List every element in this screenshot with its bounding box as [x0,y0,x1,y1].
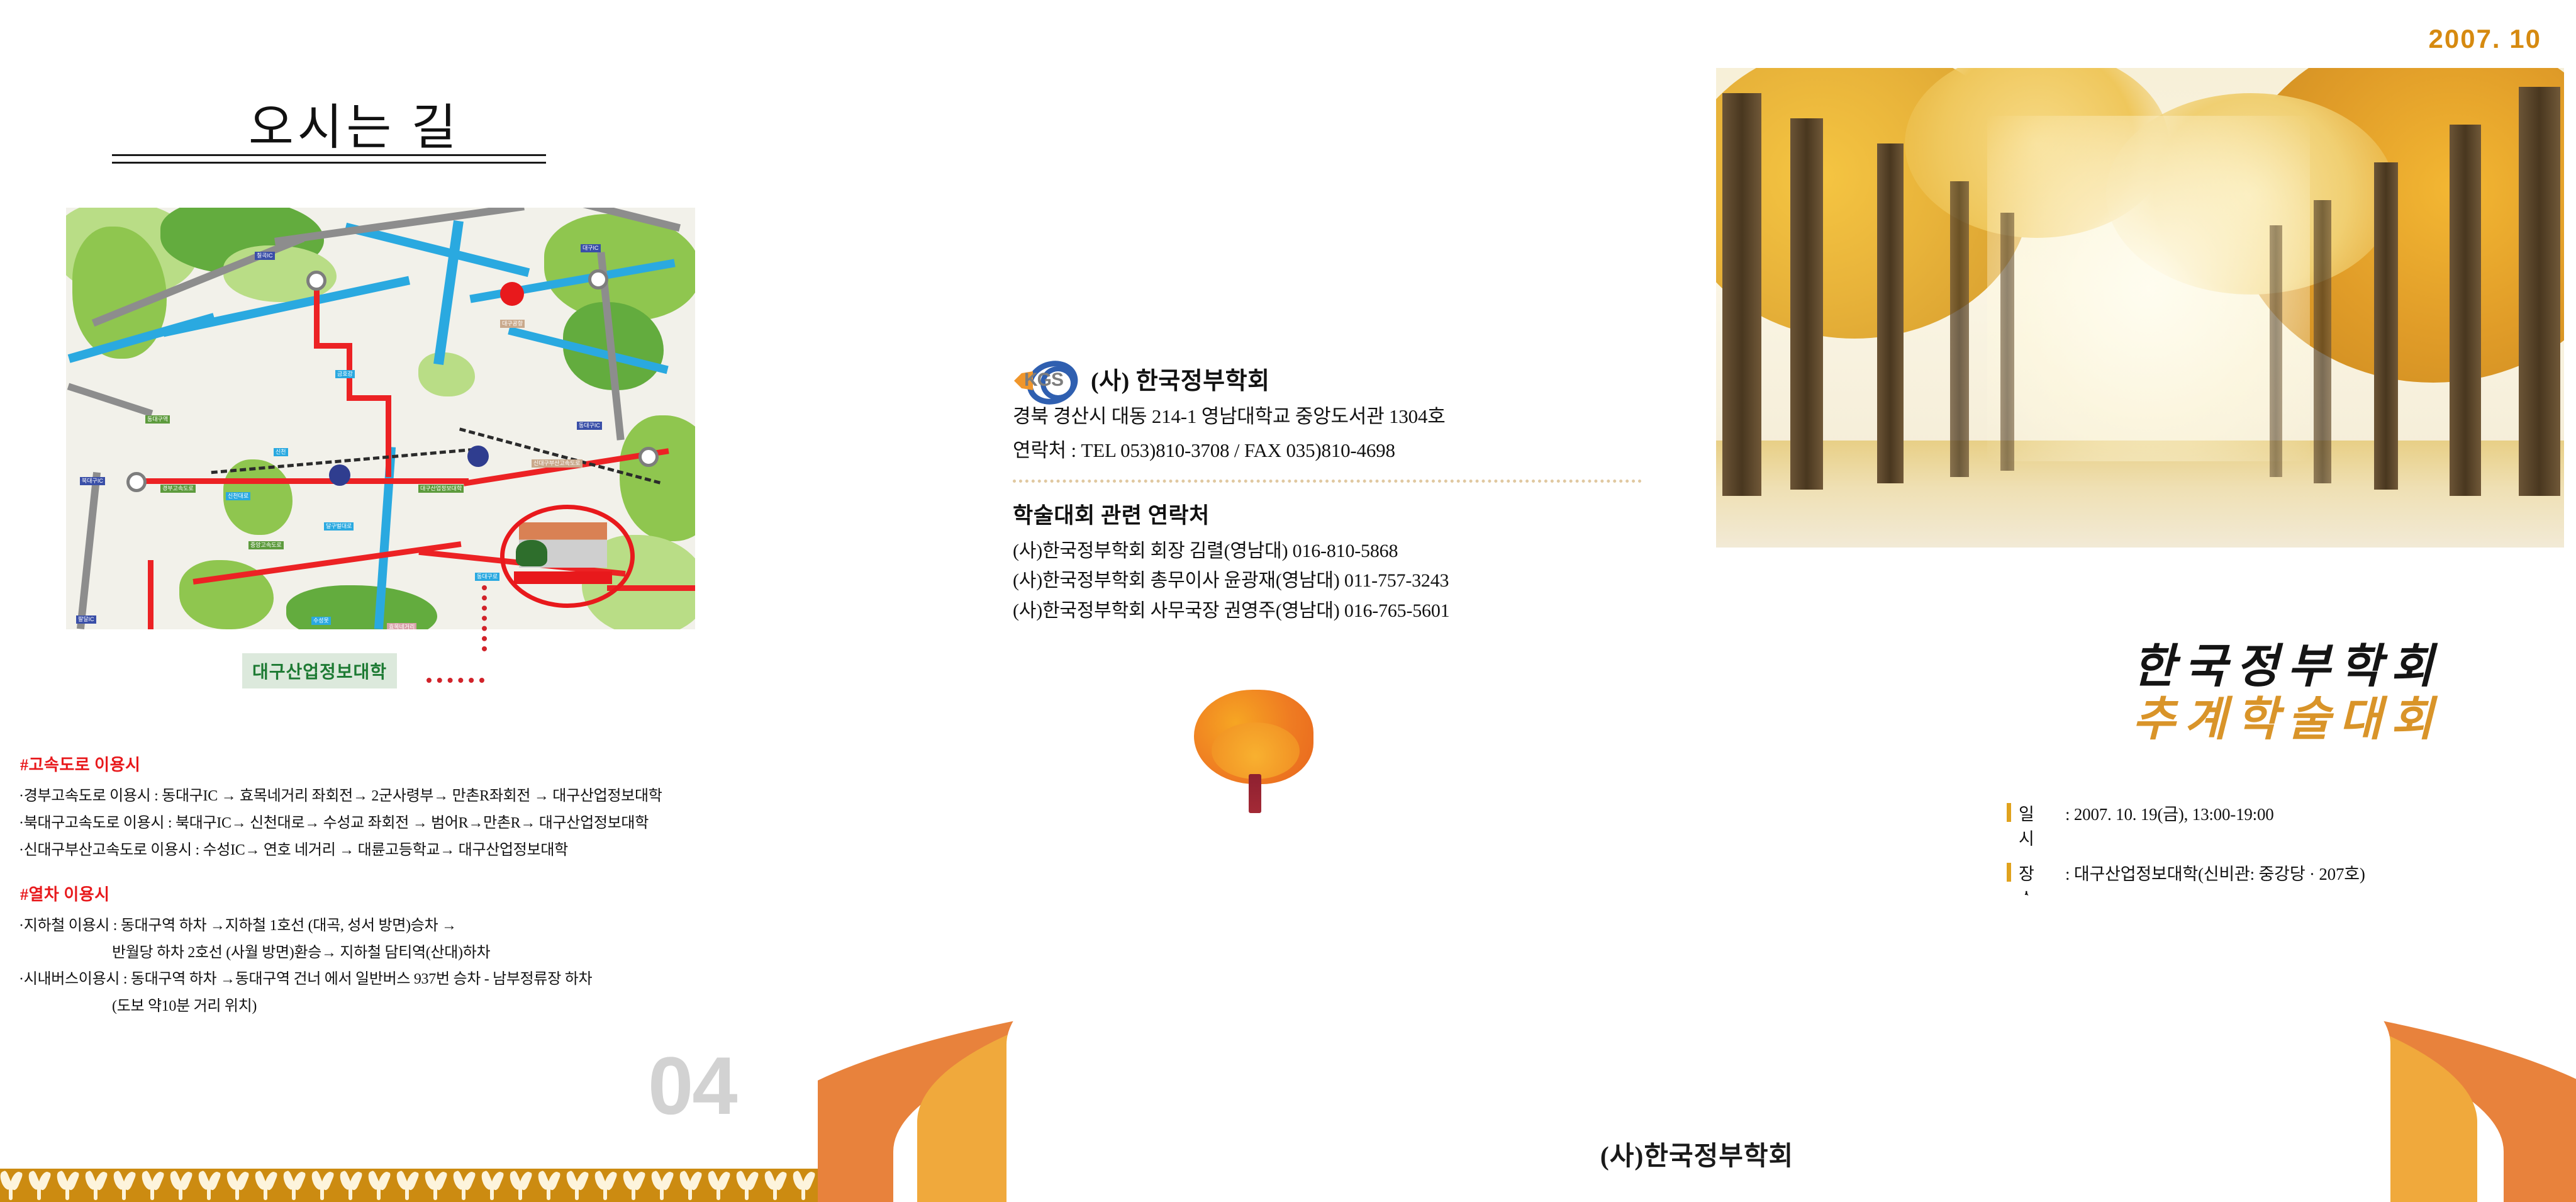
section-divider [1013,480,1642,483]
organization-name: (사) 한국정부학회 [1091,361,1270,396]
photo-tree-trunk [1950,181,1969,477]
directions-line: ·지하철 이용시 : 동대구역 하차 →지하철 1호선 (대곡, 성서 방면)승… [19,914,805,938]
directions-line: ·시내버스이용시 : 동대구역 하차 →동대구역 건너 에서 일반버스 937번… [19,967,805,992]
butterfly-motif-icon [30,1171,48,1200]
conference-contact-heading: 학술대회 관련 연락처 [1013,498,1648,530]
butterfly-motif-icon [284,1171,303,1200]
map-label: 효목네거리 [387,623,416,629]
butterfly-motif-icon [454,1171,473,1200]
map-interchange-node [126,472,147,492]
map-subway-node [467,446,489,467]
calligraphy-line-organization: 한국정부학회 [2133,643,2548,692]
butterfly-motif-icon [369,1171,388,1200]
photo-tree-trunk [1877,143,1904,483]
directions-line: ·경부고속도로 이용시 : 동대구IC → 효목네거리 좌회전→ 2군사령부→ … [19,784,805,809]
autumn-avenue-photo [1716,68,2564,548]
map-label: 팔달IC [76,615,96,624]
map-interchange-node [306,271,326,291]
butterfly-motif-icon [794,1171,813,1200]
map-road [67,383,153,417]
wave-footer-graphic: (사)한국정부학회 [818,887,2576,1202]
footer-organization-name: (사)한국정부학회 [818,1135,2576,1173]
map-label: 대구공항 [500,320,525,328]
contact-person-row: (사)한국정부학회 회장 김렬(영남대) 016-810-5868 [1013,536,1648,566]
map-label: 동대구로 [475,573,499,581]
event-detail-key: 일 시 [2019,800,2065,850]
butterfly-motif-icon [511,1171,530,1200]
map-label: 금호강 [335,370,355,378]
tree-trunk [1249,774,1261,813]
butterfly-motif-icon [398,1171,416,1200]
map-highway [135,478,469,484]
map-label: 대구IC [581,244,601,252]
butterfly-motif-icon [539,1171,558,1200]
org-header-row: KGS (사) 한국정부학회 [1013,359,1648,398]
map-river [433,220,464,365]
map-label: 동대구IC [577,422,602,430]
calligraphy-line-event: 추계학술대회 [2133,696,2548,745]
map-interchange-node [588,269,608,289]
callout-connector-vertical [482,585,487,651]
directions-line: ·북대구고속도로 이용시 : 북대구IC→ 신천대로→ 수성교 좌회전 → 범어… [19,811,805,836]
butterfly-motif-icon [737,1171,756,1200]
map-label: 수성못 [311,617,331,625]
map-airport-marker [500,282,524,306]
butterfly-motif-icon [766,1171,784,1200]
butterfly-motif-icon [482,1171,501,1200]
directions-group-highway: #고속도로 이용시 ·경부고속도로 이용시 : 동대구IC → 효목네거리 좌회… [19,752,805,863]
map-road [77,472,101,629]
butterfly-motif-icon [652,1171,671,1200]
organization-phone-fax: 연락처 : TEL 053)810-3708 / FAX 035)810-469… [1013,435,1648,466]
butterfly-motif-icon [341,1171,360,1200]
issue-date: 2007. 10 [2429,24,2542,54]
photo-tree-trunk [2314,200,2331,483]
bullet-bar-icon [2007,863,2011,882]
map-label: 북대구IC [80,477,105,485]
photo-tree-trunk [2450,125,2481,496]
page-number: 04 [648,1045,737,1126]
butterfly-motif-icon [624,1171,643,1200]
callout-connector-horizontal [427,678,484,683]
location-map[interactable]: 칠곡IC 대구IC 북대구IC 동대구IC 팔달IC 수성IC 금호강 신천 동… [66,208,695,629]
event-detail-value: : 2007. 10. 19(금), 13:00-19:00 [2065,800,2274,825]
butterfly-motif-icon [199,1171,218,1200]
contact-person-row: (사)한국정부학회 사무국장 권영주(영남대) 016-765-5601 [1013,596,1648,626]
map-label: 달구벌대로 [324,522,354,531]
directions-line: (도보 약10분 거리 위치) [19,994,805,1019]
organization-contact-block: KGS (사) 한국정부학회 경북 경산시 대동 214-1 영남대학교 중앙도… [1013,359,1648,626]
map-green-area [620,415,695,541]
butterfly-motif-icon [709,1171,728,1200]
butterfly-motif-icon [596,1171,615,1200]
map-destination-highlight-circle [500,505,635,608]
butterfly-motif-icon [426,1171,445,1200]
map-highway [314,343,352,349]
butterfly-motif-icon [1,1171,20,1200]
map-callout-label: 대구산업정보대학 [242,653,397,688]
event-detail-value: : 대구산업정보대학(신비관: 중강당 · 207호) [2065,860,2365,885]
logo-wordmark: KGS [1024,369,1063,391]
photo-light-glow [1987,116,2309,461]
autumn-tree-illustration [1183,686,1327,831]
directions-group-train: #열차 이용시 ·지하철 이용시 : 동대구역 하차 →지하철 1호선 (대곡,… [19,882,805,1019]
event-detail-row-date: 일 시 : 2007. 10. 19(금), 13:00-19:00 [2007,800,2365,850]
butterfly-motif-icon [313,1171,332,1200]
photo-tree-trunk [2270,225,2282,477]
map-highway [148,560,153,629]
directions-heading: #열차 이용시 [20,882,805,905]
brochure-page: 오시는 길 [0,0,2576,1202]
butterfly-motif-icon [143,1171,162,1200]
contact-person-row: (사)한국정부학회 총무이사 윤광재(영남대) 011-757-3243 [1013,566,1648,595]
photo-tree-trunk [1722,93,1761,496]
map-label: 신천 [274,448,288,456]
conference-calligraphy-title: 한국정부학회 추계학술대회 [2133,643,2548,744]
butterfly-motif-icon [86,1171,105,1200]
organization-address: 경북 경산시 대동 214-1 영남대학교 중앙도서관 1304호 [1013,402,1648,432]
photo-tree-trunk [2519,87,2560,496]
map-label: 대구산업정보대학 [418,485,464,493]
page-title: 오시는 길 [248,88,460,159]
map-label: 경부고속도로 [160,485,196,493]
butterfly-motif-icon [114,1171,133,1200]
map-green-area [418,352,475,396]
left-panel: 오시는 길 [0,0,818,1202]
butterfly-motif-icon [567,1171,586,1200]
map-label: 동대구역 [145,415,170,424]
butterfly-motif-icon [58,1171,77,1200]
tree-crown-highlight [1212,722,1300,779]
bullet-bar-icon [2007,803,2011,822]
map-interchange-node [638,447,659,467]
photo-tree-trunk [2374,162,2398,490]
title-underline-rule [112,154,546,164]
map-label: 칠곡IC [255,252,275,260]
decorative-border-band [0,1169,818,1202]
butterfly-motif-icon [171,1171,190,1200]
map-label: 신대구부산고속도로 [532,459,583,468]
map-subway-node [329,464,350,486]
map-label: 신천대로 [226,492,250,500]
directions-heading: #고속도로 이용시 [20,752,805,775]
kgs-logo-icon: KGS [1013,359,1082,398]
directions-line: 반월당 하차 2호선 (사월 방면)환승→ 지하철 담티역(산대)하차 [19,941,805,965]
butterfly-motif-icon [256,1171,275,1200]
directions-line: ·신대구부산고속도로 이용시 : 수성IC→ 연호 네거리 → 대륜고등학교→ … [19,838,805,863]
map-highway [386,395,391,477]
map-label: 중앙고속도로 [248,541,284,549]
butterfly-motif-icon [228,1171,247,1200]
butterfly-motif-icon [681,1171,700,1200]
photo-tree-trunk [1790,118,1823,490]
map-highway [347,395,391,401]
photo-tree-trunk [2000,213,2014,471]
directions-section: #고속도로 이용시 ·경부고속도로 이용시 : 동대구IC → 효목네거리 좌회… [19,752,805,1038]
